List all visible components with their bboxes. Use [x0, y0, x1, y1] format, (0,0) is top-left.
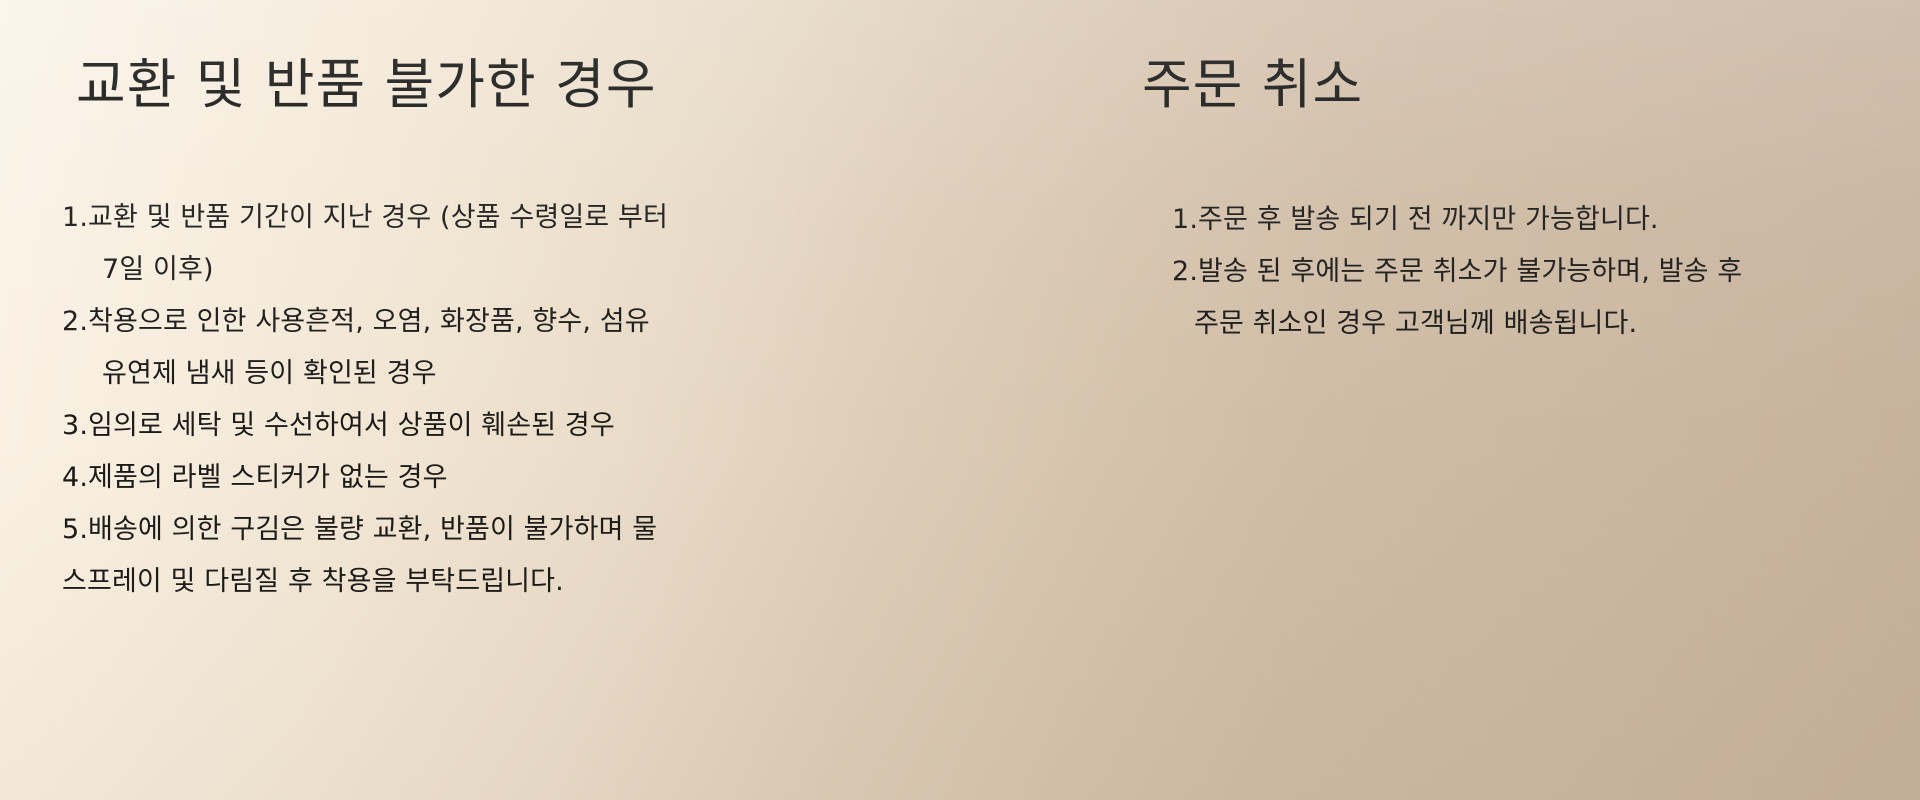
returns-policy-section: 교환 및 반품 불가한 경우 1.교환 및 반품 기간이 지난 경우 (상품 수… [0, 0, 1000, 608]
order-cancel-section: 주문 취소 1.주문 후 발송 되기 전 까지만 가능합니다. 2.발송 된 후… [1000, 0, 1920, 350]
list-item-line: 2.착용으로 인한 사용흔적, 오염, 화장품, 향수, 섬유 [62, 296, 960, 348]
list-item: 1.주문 후 발송 되기 전 까지만 가능합니다. [1172, 194, 1880, 246]
returns-policy-title: 교환 및 반품 불가한 경우 [62, 52, 960, 118]
order-cancel-list: 1.주문 후 발송 되기 전 까지만 가능합니다. 2.발송 된 후에는 주문 … [1000, 194, 1880, 350]
list-item: 2.착용으로 인한 사용흔적, 오염, 화장품, 향수, 섬유 유연제 냄새 등… [62, 296, 960, 400]
notice-board: 교환 및 반품 불가한 경우 1.교환 및 반품 기간이 지난 경우 (상품 수… [0, 0, 1920, 800]
list-item-line: 5.배송에 의한 구김은 불량 교환, 반품이 불가하며 물 [62, 504, 960, 556]
list-item: 3.임의로 세탁 및 수선하여서 상품이 훼손된 경우 [62, 400, 960, 452]
list-item: 5.배송에 의한 구김은 불량 교환, 반품이 불가하며 물 스프레이 및 다림… [62, 504, 960, 608]
order-cancel-title: 주문 취소 [1000, 52, 1880, 118]
list-item-line: 주문 취소인 경우 고객님께 배송됩니다. [1172, 298, 1880, 350]
list-item-line: 2.발송 된 후에는 주문 취소가 불가능하며, 발송 후 [1172, 246, 1880, 298]
notice-columns: 교환 및 반품 불가한 경우 1.교환 및 반품 기간이 지난 경우 (상품 수… [0, 0, 1920, 800]
list-item: 2.발송 된 후에는 주문 취소가 불가능하며, 발송 후 주문 취소인 경우 … [1172, 246, 1880, 350]
list-item-line: 1.교환 및 반품 기간이 지난 경우 (상품 수령일로 부터 [62, 192, 960, 244]
list-item: 1.교환 및 반품 기간이 지난 경우 (상품 수령일로 부터 7일 이후) [62, 192, 960, 296]
list-item-line: 7일 이후) [62, 244, 960, 296]
list-item-line: 유연제 냄새 등이 확인된 경우 [62, 348, 960, 400]
returns-policy-list: 1.교환 및 반품 기간이 지난 경우 (상품 수령일로 부터 7일 이후) 2… [62, 192, 960, 608]
list-item-line: 3.임의로 세탁 및 수선하여서 상품이 훼손된 경우 [62, 400, 960, 452]
list-item-line: 4.제품의 라벨 스티커가 없는 경우 [62, 452, 960, 504]
list-item-line: 1.주문 후 발송 되기 전 까지만 가능합니다. [1172, 194, 1880, 246]
list-item-line: 스프레이 및 다림질 후 착용을 부탁드립니다. [62, 556, 960, 608]
list-item: 4.제품의 라벨 스티커가 없는 경우 [62, 452, 960, 504]
